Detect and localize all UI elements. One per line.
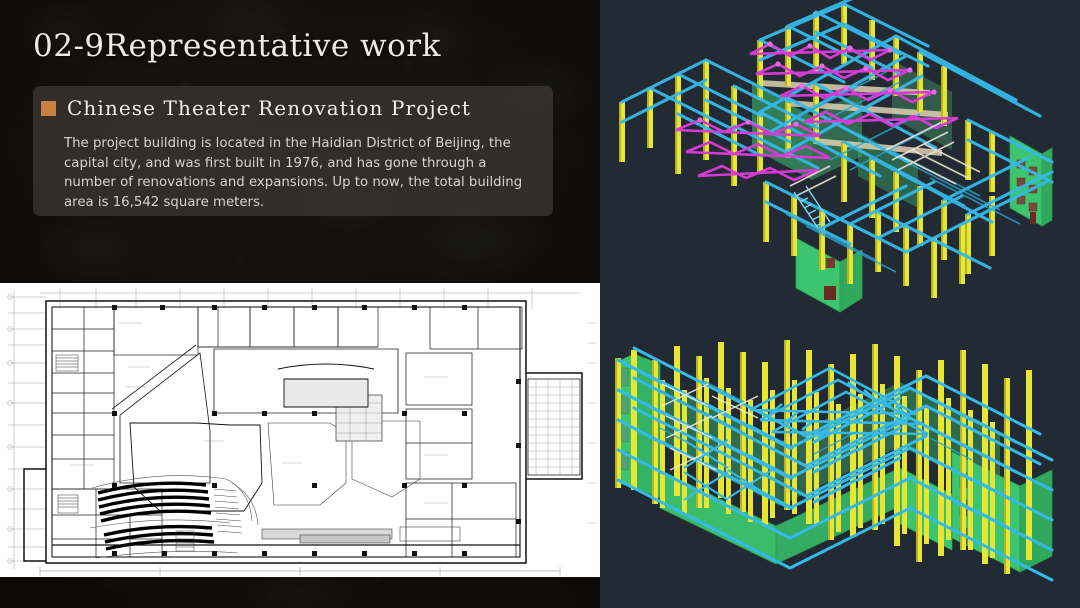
card-heading-row: Chinese Theater Renovation Project: [41, 96, 471, 120]
square-bullet-icon: [41, 101, 56, 116]
page-title: 02-9Representative work: [33, 28, 441, 64]
floor-plan-image: [0, 283, 600, 577]
cad-model-panel: [600, 0, 1080, 608]
bim-model-roof-frame: [600, 0, 1080, 320]
card-heading: Chinese Theater Renovation Project: [67, 96, 471, 120]
project-info-card: Chinese Theater Renovation Project The p…: [33, 86, 553, 216]
slide-root: 02-9Representative work Chinese Theater …: [0, 0, 1080, 608]
card-body-text: The project building is located in the H…: [64, 134, 536, 212]
bim-model-full-building: [600, 320, 1080, 608]
floor-plan-drawing: [0, 283, 600, 577]
